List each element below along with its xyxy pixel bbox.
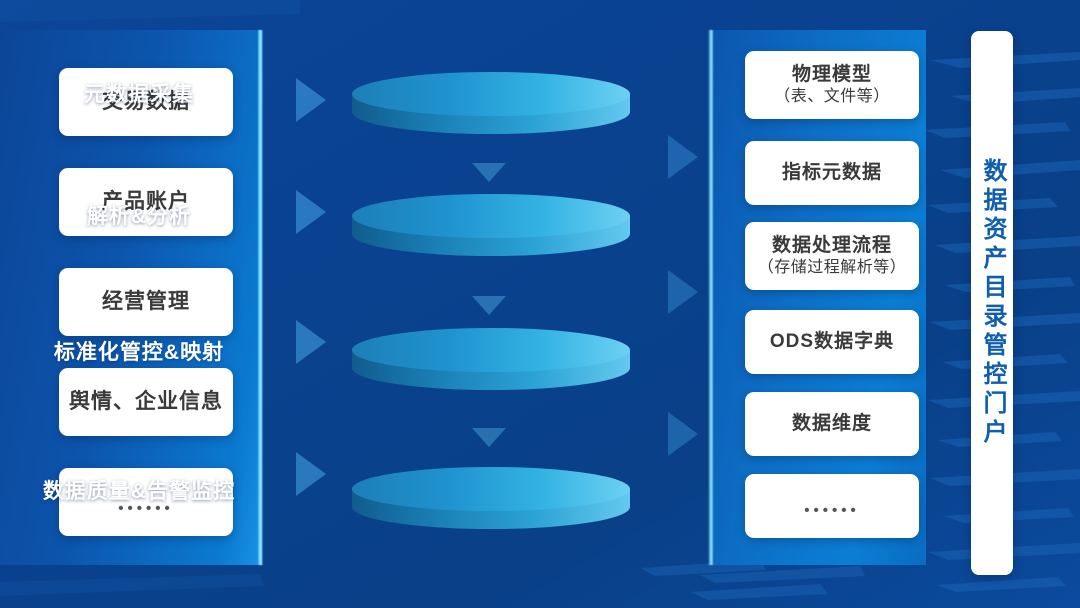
right-card-line2: （存储过程解析等） (758, 258, 907, 278)
right-card-line1: ODS数据字典 (770, 330, 894, 354)
flow-arrow-right-icon (668, 135, 698, 179)
ellipsis-label: •••••• (118, 499, 174, 518)
flow-arrow-right-icon (668, 412, 698, 456)
flow-arrow-right-icon (668, 270, 698, 314)
list-item[interactable]: 数据处理流程 （存储过程解析等） (745, 222, 919, 290)
flow-arrow-right-icon (296, 78, 326, 122)
pipeline-stage-cylinder[interactable] (352, 194, 630, 256)
list-item[interactable]: 物理模型 （表、文件等） (745, 51, 919, 119)
list-item[interactable]: 舆情、企业信息 (59, 368, 233, 436)
flow-arrow-right-icon (296, 320, 326, 364)
list-item[interactable]: 产品账户 (59, 168, 233, 236)
list-item[interactable]: 经营管理 (59, 268, 233, 336)
left-card-label: 交易数据 (102, 89, 190, 116)
flow-chevron-down-icon (472, 428, 506, 447)
right-panel-edge-glow (708, 30, 713, 565)
list-item[interactable]: 指标元数据 (745, 141, 919, 205)
left-card-label: 产品账户 (102, 189, 190, 216)
right-card-line1: 指标元数据 (782, 161, 882, 185)
flow-arrow-right-icon (296, 190, 326, 234)
list-item-ellipsis[interactable]: •••••• (745, 474, 919, 538)
flow-chevron-down-icon (472, 296, 506, 315)
portal-bar[interactable]: 数据资产目录管控门户 (971, 31, 1013, 575)
list-item[interactable]: 数据维度 (745, 392, 919, 456)
pipeline-stage-cylinder[interactable] (352, 328, 630, 390)
slide-canvas: 交易数据 产品账户 经营管理 舆情、企业信息 •••••• (0, 0, 1080, 608)
right-card-line1: 数据维度 (792, 412, 872, 436)
list-item-ellipsis[interactable]: •••••• (59, 468, 233, 536)
list-item[interactable]: 交易数据 (59, 68, 233, 136)
portal-label: 数据资产目录管控门户 (980, 158, 1004, 448)
left-panel-edge-glow (258, 30, 263, 565)
pipeline-stage-cylinder[interactable] (352, 72, 630, 134)
right-card-line1: 物理模型 (792, 63, 872, 87)
pipeline-stage-cylinder[interactable] (352, 467, 630, 529)
list-item[interactable]: ODS数据字典 (745, 310, 919, 374)
left-card-label: 经营管理 (102, 289, 190, 316)
left-card-label: 舆情、企业信息 (69, 389, 223, 416)
flow-arrow-right-icon (296, 452, 326, 496)
right-card-line2: （表、文件等） (774, 87, 890, 107)
flow-chevron-down-icon (472, 163, 506, 182)
right-card-line1: 数据处理流程 (772, 234, 892, 258)
ellipsis-label: •••••• (804, 501, 860, 520)
